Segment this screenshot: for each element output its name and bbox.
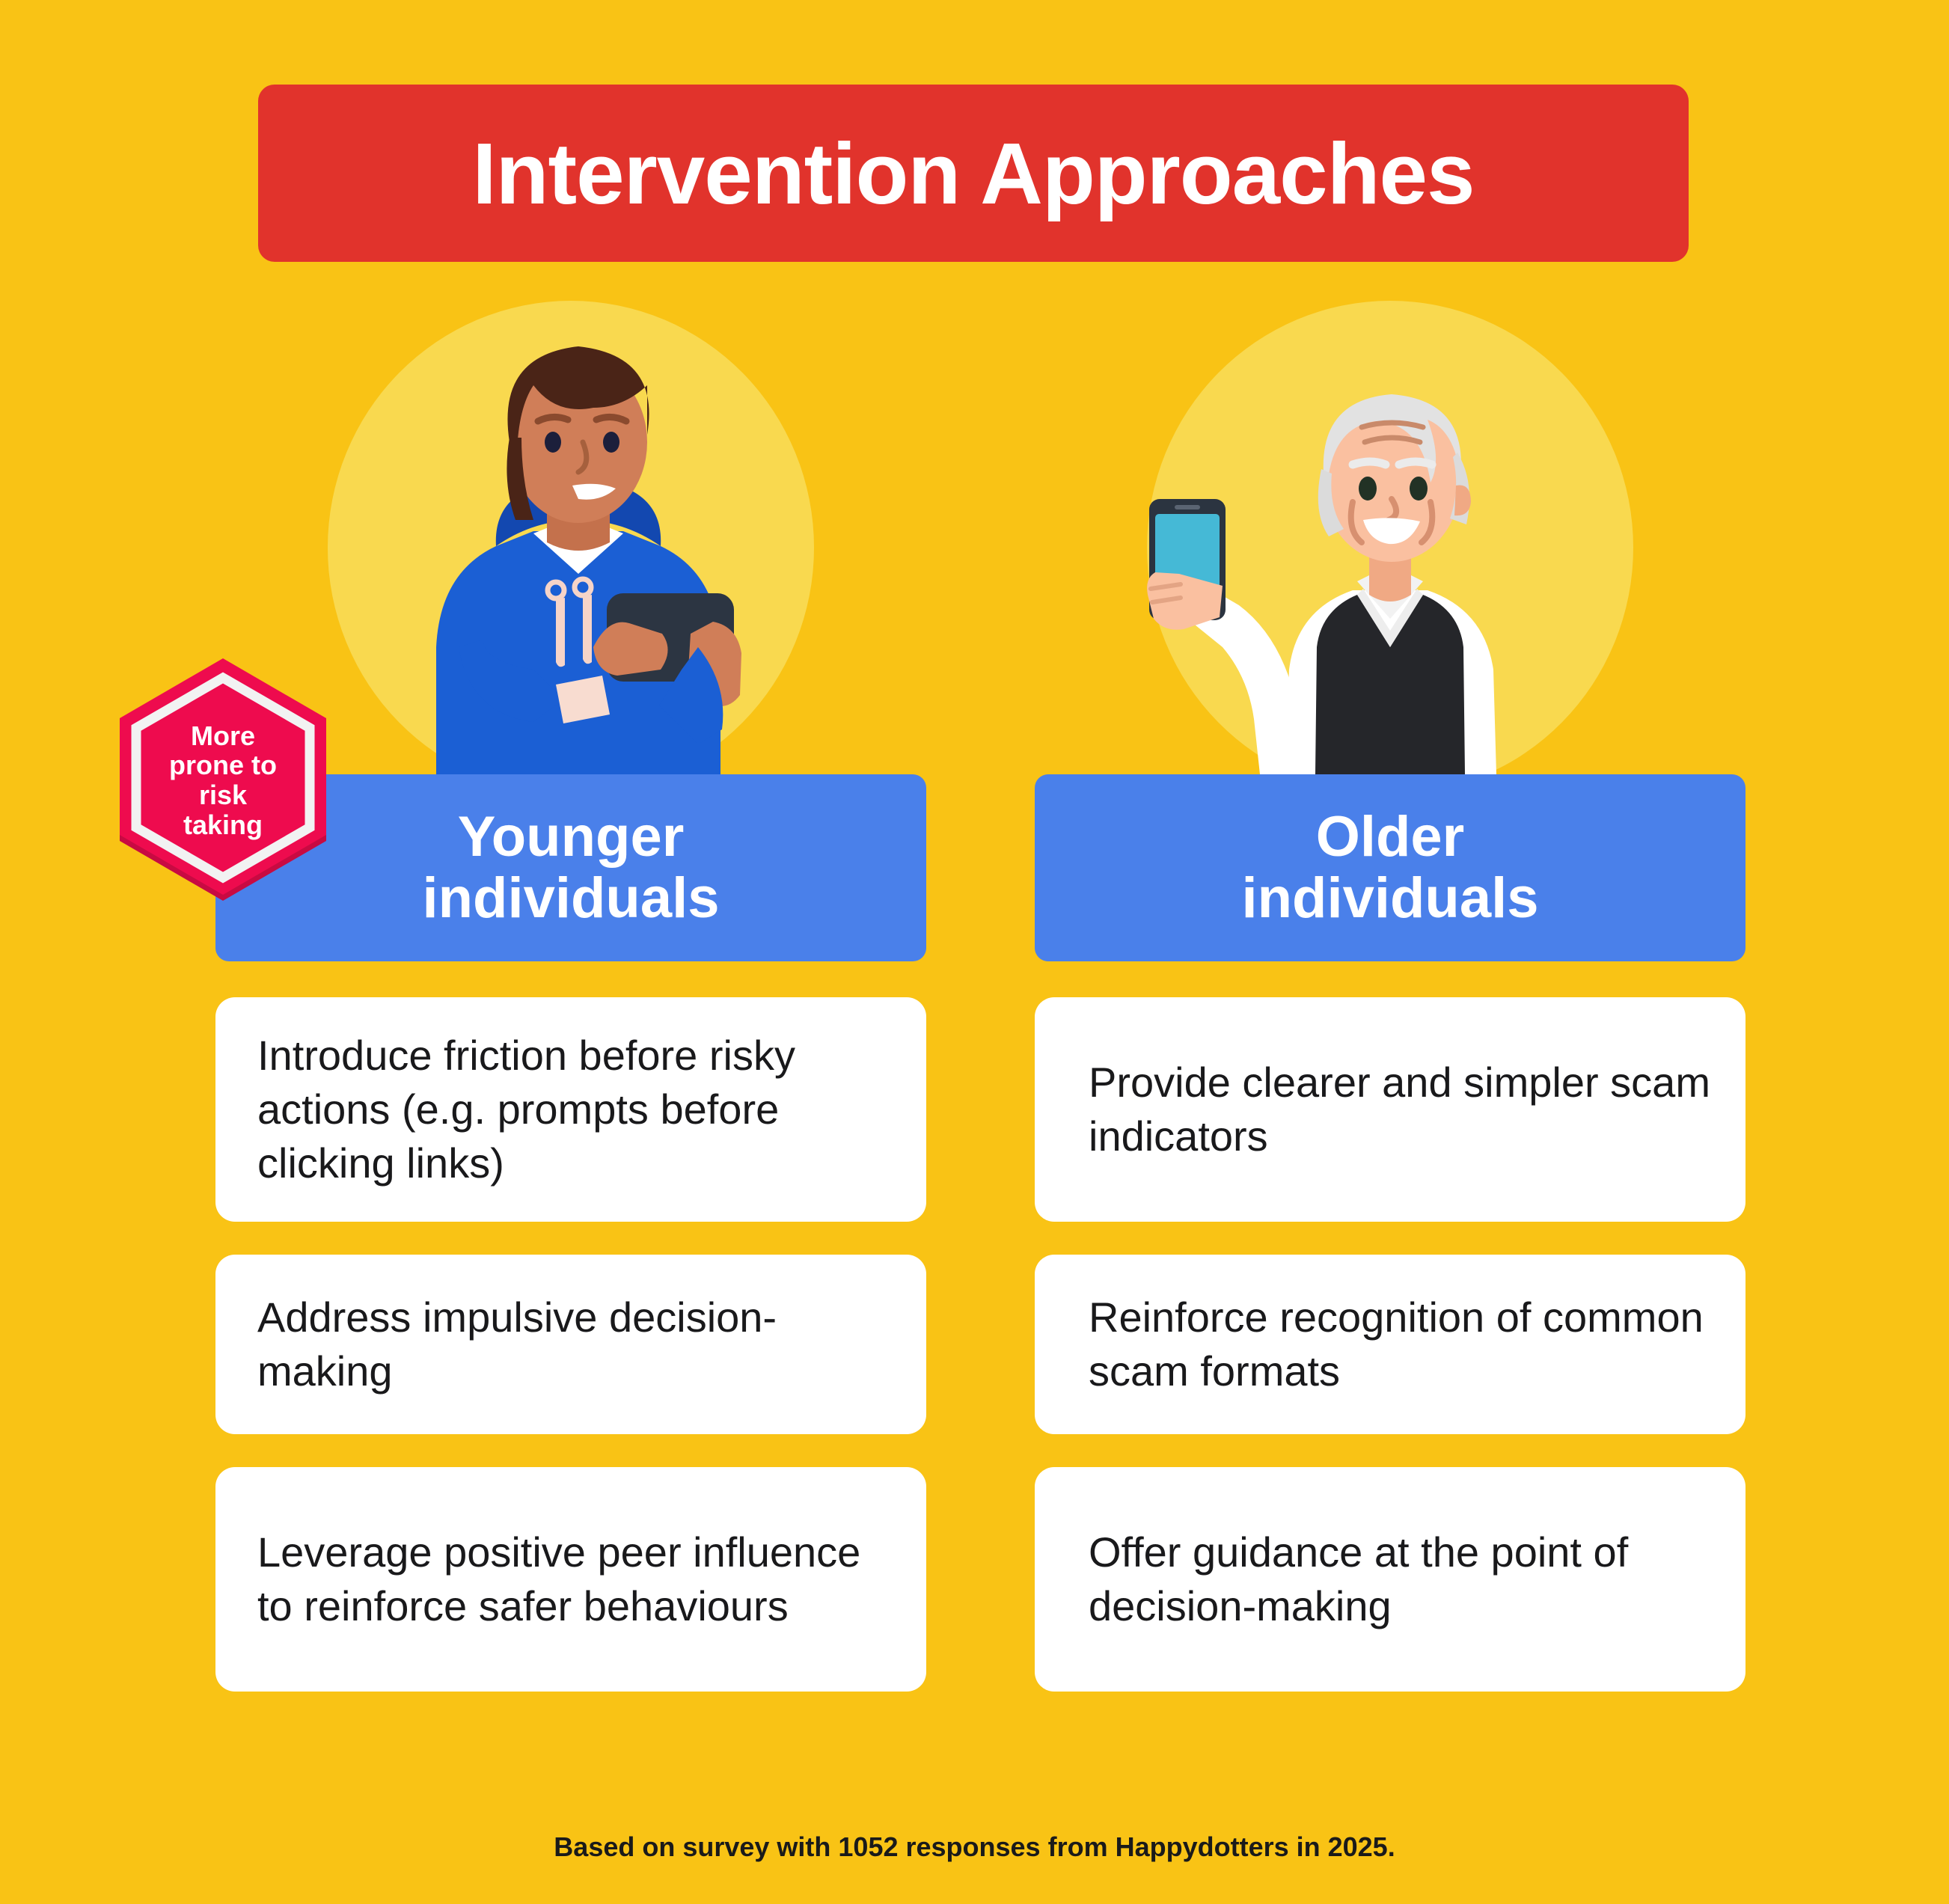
young-person-with-phone-icon	[309, 296, 833, 774]
older-cards-list: Provide clearer and simpler scam indicat…	[1035, 997, 1745, 1692]
card-text: Offer guidance at the point of decision-…	[1065, 1525, 1716, 1632]
column-younger: Younger individuals Introduce friction b…	[215, 292, 926, 1724]
list-item[interactable]: Offer guidance at the point of decision-…	[1035, 1467, 1745, 1692]
list-item[interactable]: Provide clearer and simpler scam indicat…	[1035, 997, 1745, 1222]
column-header-label: Older individuals	[1242, 806, 1539, 929]
page-title: Intervention Approaches	[472, 130, 1474, 217]
title-banner: Intervention Approaches	[258, 85, 1689, 262]
list-item[interactable]: Leverage positive peer influence to rein…	[215, 1467, 926, 1692]
column-header-older: Older individuals	[1035, 774, 1745, 961]
source-note: Based on survey with 1052 responses from…	[0, 1831, 1949, 1863]
infographic-poster: Intervention Approaches	[0, 0, 1949, 1904]
card-text: Leverage positive peer influence to rein…	[245, 1525, 896, 1632]
card-text: Introduce friction before risky actions …	[245, 1029, 896, 1190]
risk-badge-label: More prone to risk taking	[111, 657, 335, 904]
list-item[interactable]: Introduce friction before risky actions …	[215, 997, 926, 1222]
list-item[interactable]: Address impulsive decision-making	[215, 1255, 926, 1434]
comparison-columns: Younger individuals Introduce friction b…	[0, 292, 1949, 1796]
older-illustration-area	[1035, 292, 1745, 774]
card-text: Provide clearer and simpler scam indicat…	[1065, 1056, 1716, 1163]
older-person-with-phone-icon	[1128, 296, 1652, 774]
list-item[interactable]: Reinforce recognition of common scam for…	[1035, 1255, 1745, 1434]
younger-cards-list: Introduce friction before risky actions …	[215, 997, 926, 1692]
risk-badge: More prone to risk taking	[111, 657, 335, 904]
card-text: Address impulsive decision-making	[245, 1291, 896, 1398]
card-text: Reinforce recognition of common scam for…	[1065, 1291, 1716, 1398]
column-header-label: Younger individuals	[423, 806, 720, 929]
column-older: Older individuals Provide clearer and si…	[1035, 292, 1745, 1724]
